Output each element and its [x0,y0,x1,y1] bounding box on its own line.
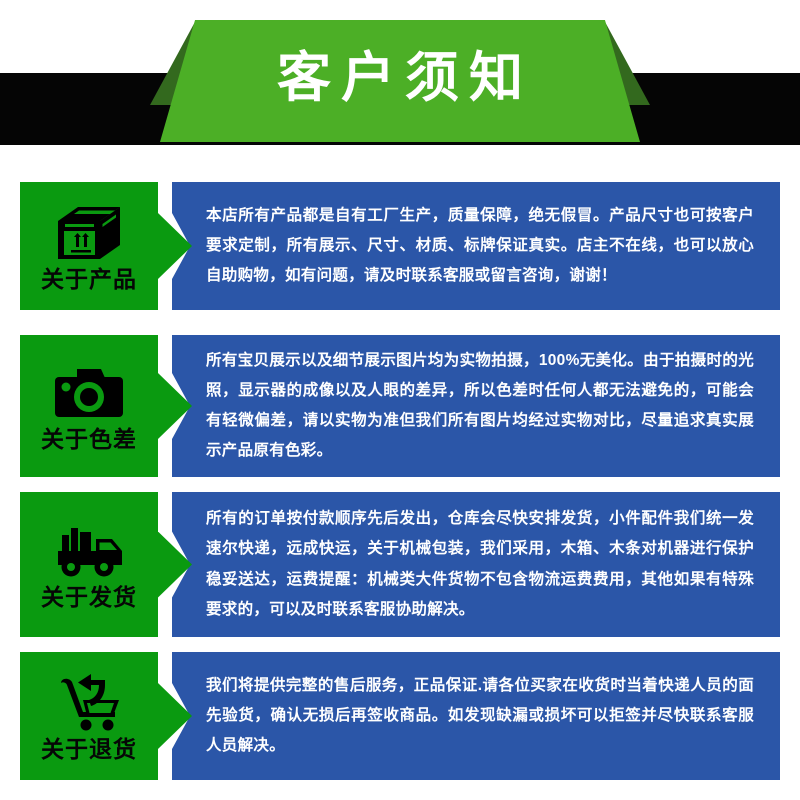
panel-product: 本店所有产品都是自有工厂生产，质量保障，绝无假冒。产品尺寸也可按客户要求定制，所… [172,182,780,310]
notice-row-shipping: 关于发货 所有的订单按付款顺序先后发出，仓库会尽快安排发货，小件配件我们统一发速… [20,492,780,637]
badge-label-shipping: 关于发货 [41,586,137,609]
customer-notice-page: 客户须知 [0,0,800,800]
notice-sections: 关于产品 本店所有产品都是自有工厂生产，质量保障，绝无假冒。产品尺寸也可按客户要… [0,150,800,800]
panel-text-color-difference: 所有宝贝展示以及细节展示图片均为实物拍摄，100%无美化。由于拍摄时的光照，显示… [206,346,754,467]
banner-ribbon: 客户须知 [160,20,640,142]
forklift-truck-icon [52,520,126,582]
carton-box-icon [52,202,126,264]
panel-color-difference: 所有宝贝展示以及细节展示图片均为实物拍摄，100%无美化。由于拍摄时的光照，显示… [172,335,780,477]
header-banner: 客户须知 [0,0,800,150]
badge-product[interactable]: 关于产品 [20,182,158,310]
badge-label-product: 关于产品 [41,268,137,291]
camera-icon [52,362,126,424]
panel-returns: 我们将提供完整的售后服务，正品保证.请各位买家在收货时当着快递人员的面先验货，确… [172,652,780,780]
badge-shipping[interactable]: 关于发货 [20,492,158,637]
return-cart-icon [52,672,126,734]
panel-text-returns: 我们将提供完整的售后服务，正品保证.请各位买家在收货时当着快递人员的面先验货，确… [206,671,754,762]
panel-text-shipping: 所有的订单按付款顺序先后发出，仓库会尽快安排发货，小件配件我们统一发速尔快递，远… [206,504,754,625]
badge-label-returns: 关于退货 [41,738,137,761]
badge-label-color-difference: 关于色差 [41,428,137,451]
badge-color-difference[interactable]: 关于色差 [20,335,158,477]
badge-returns[interactable]: 关于退货 [20,652,158,780]
notice-row-product: 关于产品 本店所有产品都是自有工厂生产，质量保障，绝无假冒。产品尺寸也可按客户要… [20,182,780,310]
notice-row-color-difference: 关于色差 所有宝贝展示以及细节展示图片均为实物拍摄，100%无美化。由于拍摄时的… [20,335,780,477]
page-title: 客户须知 [267,51,533,111]
notice-row-returns: 关于退货 我们将提供完整的售后服务，正品保证.请各位买家在收货时当着快递人员的面… [20,652,780,780]
panel-text-product: 本店所有产品都是自有工厂生产，质量保障，绝无假冒。产品尺寸也可按客户要求定制，所… [206,201,754,292]
panel-shipping: 所有的订单按付款顺序先后发出，仓库会尽快安排发货，小件配件我们统一发速尔快递，远… [172,492,780,637]
